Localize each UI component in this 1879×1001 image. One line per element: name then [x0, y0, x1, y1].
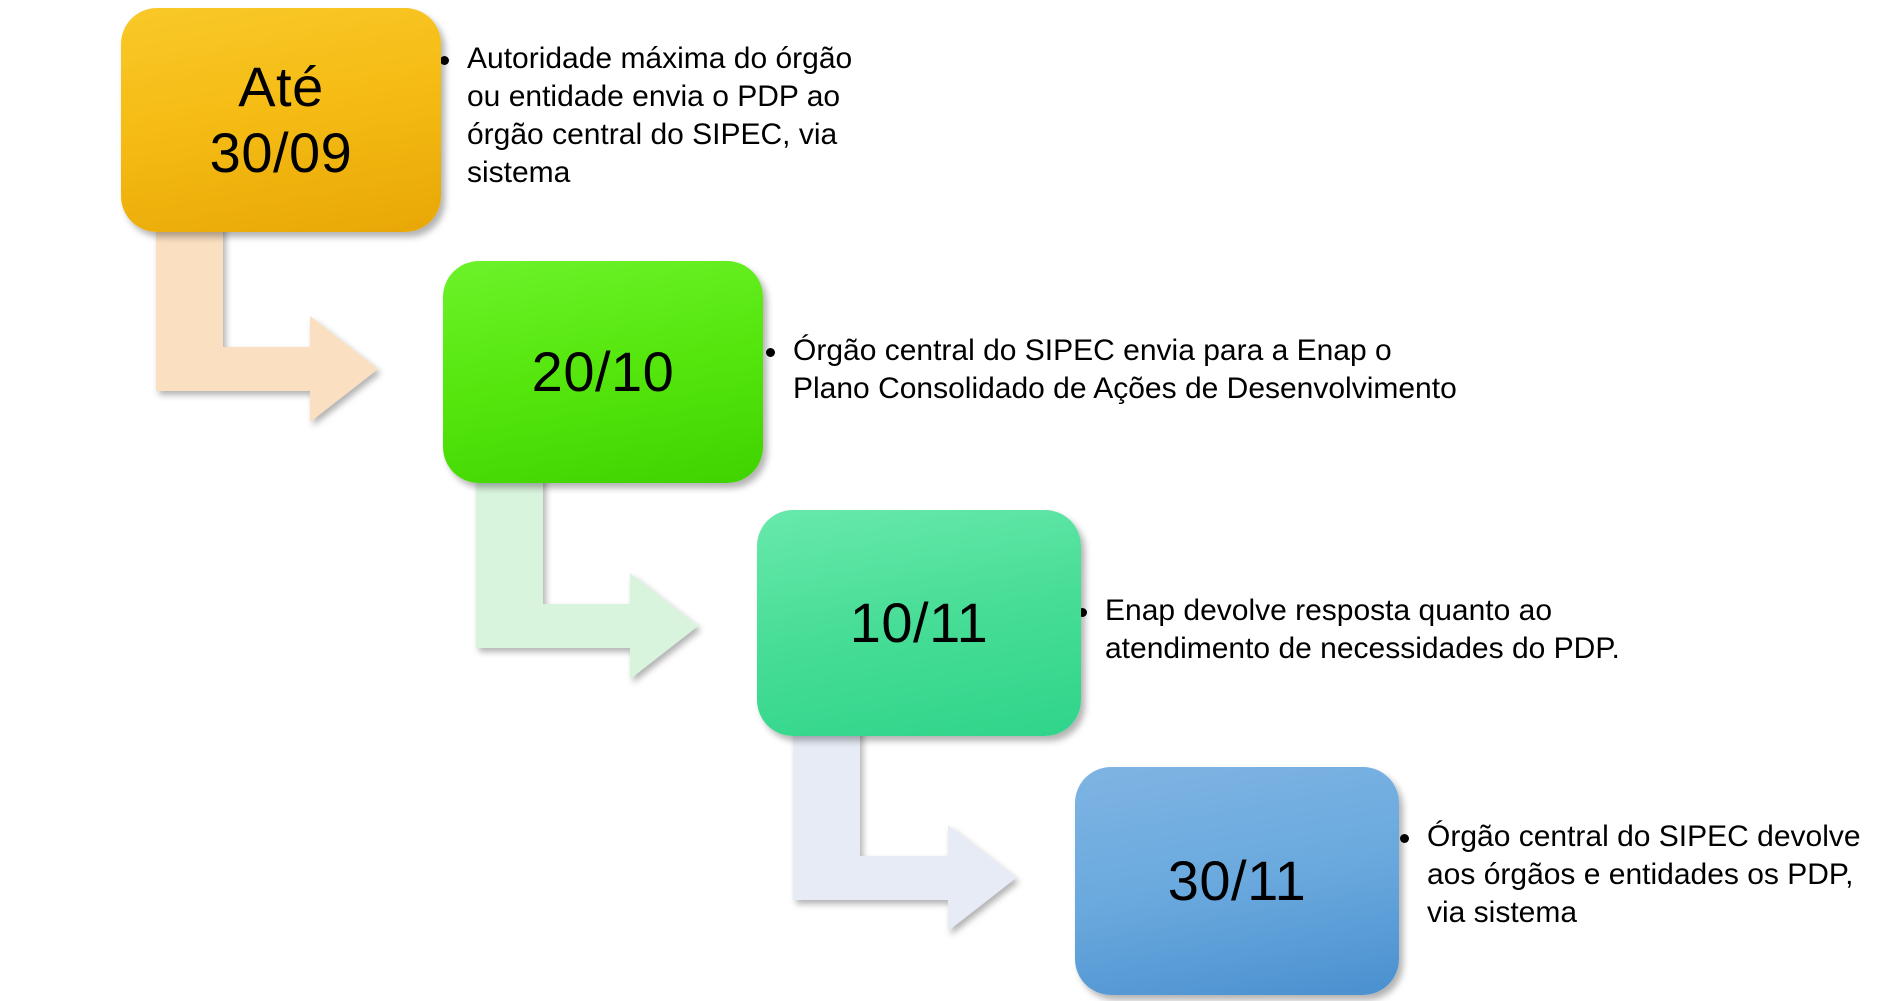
step-description-block-2: Órgão central do SIPEC envia para a Enap… [766, 332, 1466, 408]
bullet-dot-icon [1400, 834, 1409, 843]
bullet-dot-icon [766, 348, 775, 357]
step-date-label-1: Até 30/09 [210, 54, 353, 186]
elbow-arrow-icon [156, 205, 378, 422]
step-description-block-4: Órgão central do SIPEC devolve aos órgão… [1400, 818, 1870, 932]
step-description-3: Enap devolve resposta quanto ao atendime… [1105, 592, 1658, 668]
connector-2-3 [476, 460, 698, 679]
connector-3-4 [793, 713, 1016, 931]
step-box-2[interactable]: 20/10 [443, 261, 763, 483]
step-date-label-4: 30/11 [1168, 848, 1306, 914]
step-box-4[interactable]: 30/11 [1075, 767, 1399, 995]
elbow-arrow-icon [476, 460, 698, 679]
step-description-2: Órgão central do SIPEC envia para a Enap… [793, 332, 1466, 408]
step-description-block-3: Enap devolve resposta quanto ao atendime… [1078, 592, 1658, 668]
elbow-arrow-icon [793, 713, 1016, 931]
step-date-label-3: 10/11 [850, 590, 988, 656]
step-box-3[interactable]: 10/11 [757, 510, 1081, 736]
connector-1-2 [156, 205, 378, 422]
step-box-1[interactable]: Até 30/09 [121, 8, 441, 232]
step-description-4: Órgão central do SIPEC devolve aos órgão… [1427, 818, 1870, 932]
step-date-label-2: 20/10 [532, 339, 675, 405]
step-description-1: Autoridade máxima do órgão ou entidade e… [467, 40, 860, 192]
bullet-dot-icon [440, 56, 449, 65]
step-description-block-1: Autoridade máxima do órgão ou entidade e… [440, 40, 860, 192]
